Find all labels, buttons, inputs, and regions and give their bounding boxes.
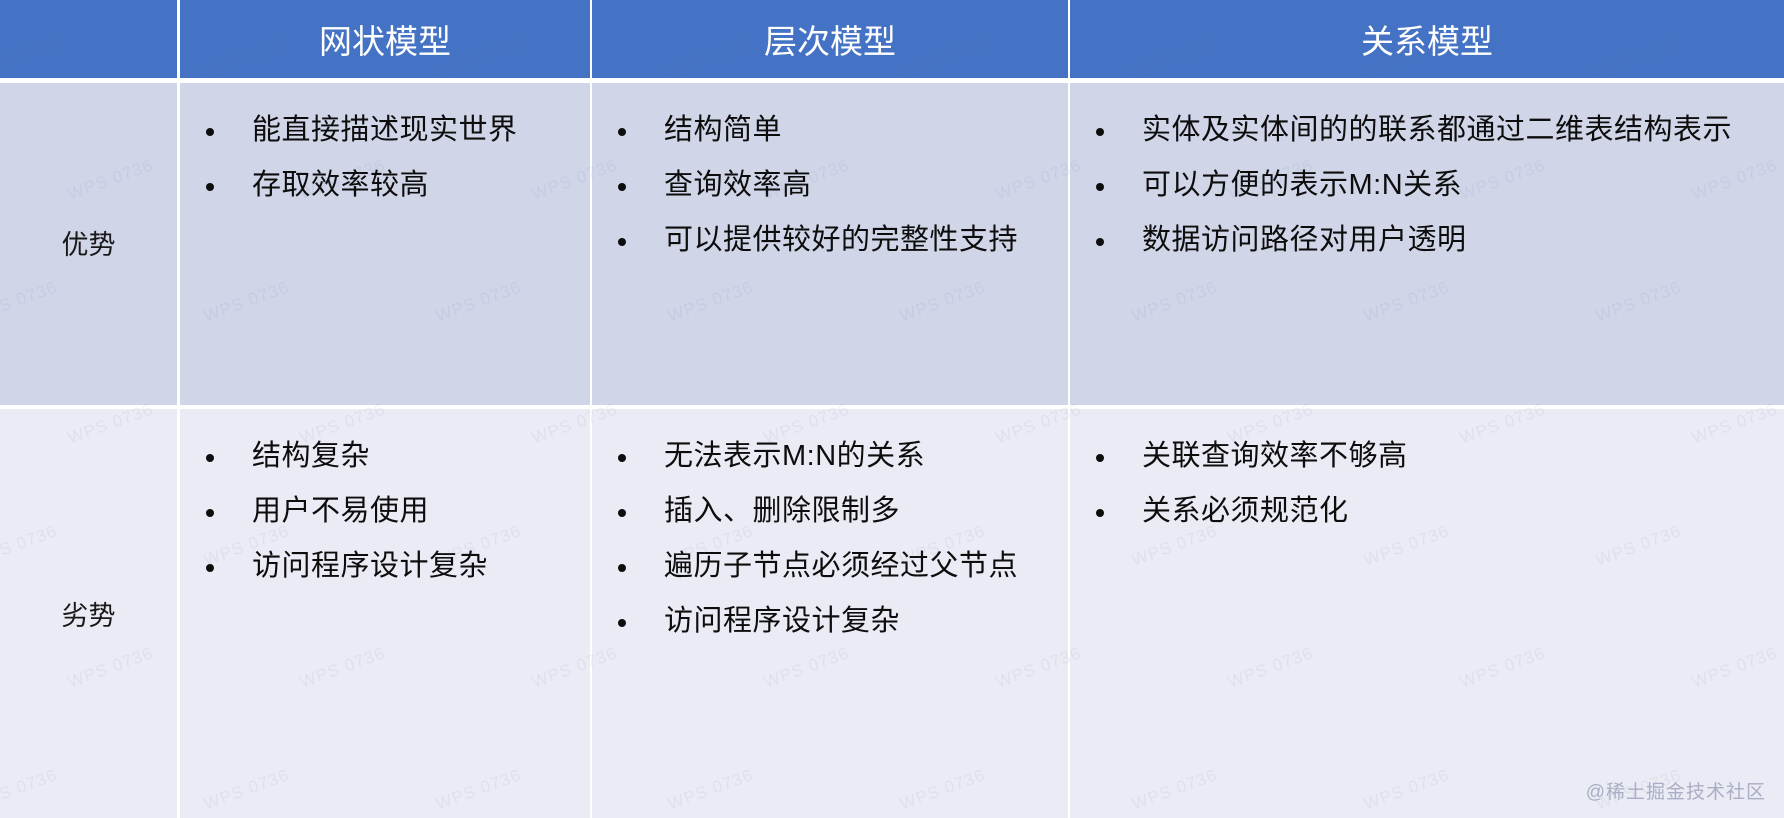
table-row-advantages: 优势 能直接描述现实世界 存取效率较高 结构简单 查询效率高 可以提供较好的完整… [0,78,1784,405]
list-item: 访问程序设计复杂 [198,539,576,593]
list-item: 可以提供较好的完整性支持 [610,213,1054,267]
cell-advantages-network: 能直接描述现实世界 存取效率较高 [180,78,592,405]
list-item: 实体及实体间的的联系都通过二维表结构表示 [1088,103,1770,157]
bullet-list: 无法表示M:N的关系 插入、删除限制多 遍历子节点必须经过父节点 访问程序设计复… [592,409,1068,648]
table-body: 优势 能直接描述现实世界 存取效率较高 结构简单 查询效率高 可以提供较好的完整… [0,78,1784,818]
data-model-comparison-table: 网状模型 层次模型 关系模型 优势 能直接描述现实世界 存取效率较高 结构简单 … [0,0,1784,818]
list-item: 插入、删除限制多 [610,484,1054,538]
row-label-disadvantages: 劣势 [0,405,180,818]
header-row: 网状模型 层次模型 关系模型 [0,0,1784,78]
list-item: 用户不易使用 [198,484,576,538]
cell-advantages-relational: 实体及实体间的的联系都通过二维表结构表示 可以方便的表示M:N关系 数据访问路径… [1070,78,1784,405]
site-credit-watermark: @稀土掘金技术社区 [1586,777,1766,804]
list-item: 查询效率高 [610,158,1054,212]
list-item: 可以方便的表示M:N关系 [1088,158,1770,212]
cell-disadvantages-network: 结构复杂 用户不易使用 访问程序设计复杂 [180,405,592,818]
header-col-hierarchical-model: 层次模型 [592,0,1070,78]
list-item: 关联查询效率不够高 [1088,429,1770,483]
list-item: 访问程序设计复杂 [610,594,1054,648]
list-item: 能直接描述现实世界 [198,103,576,157]
list-item: 数据访问路径对用户透明 [1088,213,1770,267]
bullet-list: 能直接描述现实世界 存取效率较高 [180,83,590,212]
header-corner-cell [0,0,180,78]
cell-disadvantages-hierarchical: 无法表示M:N的关系 插入、删除限制多 遍历子节点必须经过父节点 访问程序设计复… [592,405,1070,818]
cell-disadvantages-relational: 关联查询效率不够高 关系必须规范化 [1070,405,1784,818]
list-item: 无法表示M:N的关系 [610,429,1054,483]
bullet-list: 关联查询效率不够高 关系必须规范化 [1070,409,1784,538]
row-label-advantages: 优势 [0,78,180,405]
list-item: 存取效率较高 [198,158,576,212]
table-row-disadvantages: 劣势 结构复杂 用户不易使用 访问程序设计复杂 无法表示M:N的关系 插入、删除… [0,405,1784,818]
table-header: 网状模型 层次模型 关系模型 [0,0,1784,78]
list-item: 遍历子节点必须经过父节点 [610,539,1054,593]
header-col-relational-model: 关系模型 [1070,0,1784,78]
bullet-list: 结构复杂 用户不易使用 访问程序设计复杂 [180,409,590,593]
list-item: 结构简单 [610,103,1054,157]
bullet-list: 实体及实体间的的联系都通过二维表结构表示 可以方便的表示M:N关系 数据访问路径… [1070,83,1784,267]
list-item: 关系必须规范化 [1088,484,1770,538]
cell-advantages-hierarchical: 结构简单 查询效率高 可以提供较好的完整性支持 [592,78,1070,405]
list-item: 结构复杂 [198,429,576,483]
header-col-network-model: 网状模型 [180,0,592,78]
comparison-slide: WPS 0736WPS 0736WPS 0736WPS 0736WPS 0736… [0,0,1784,818]
bullet-list: 结构简单 查询效率高 可以提供较好的完整性支持 [592,83,1068,267]
